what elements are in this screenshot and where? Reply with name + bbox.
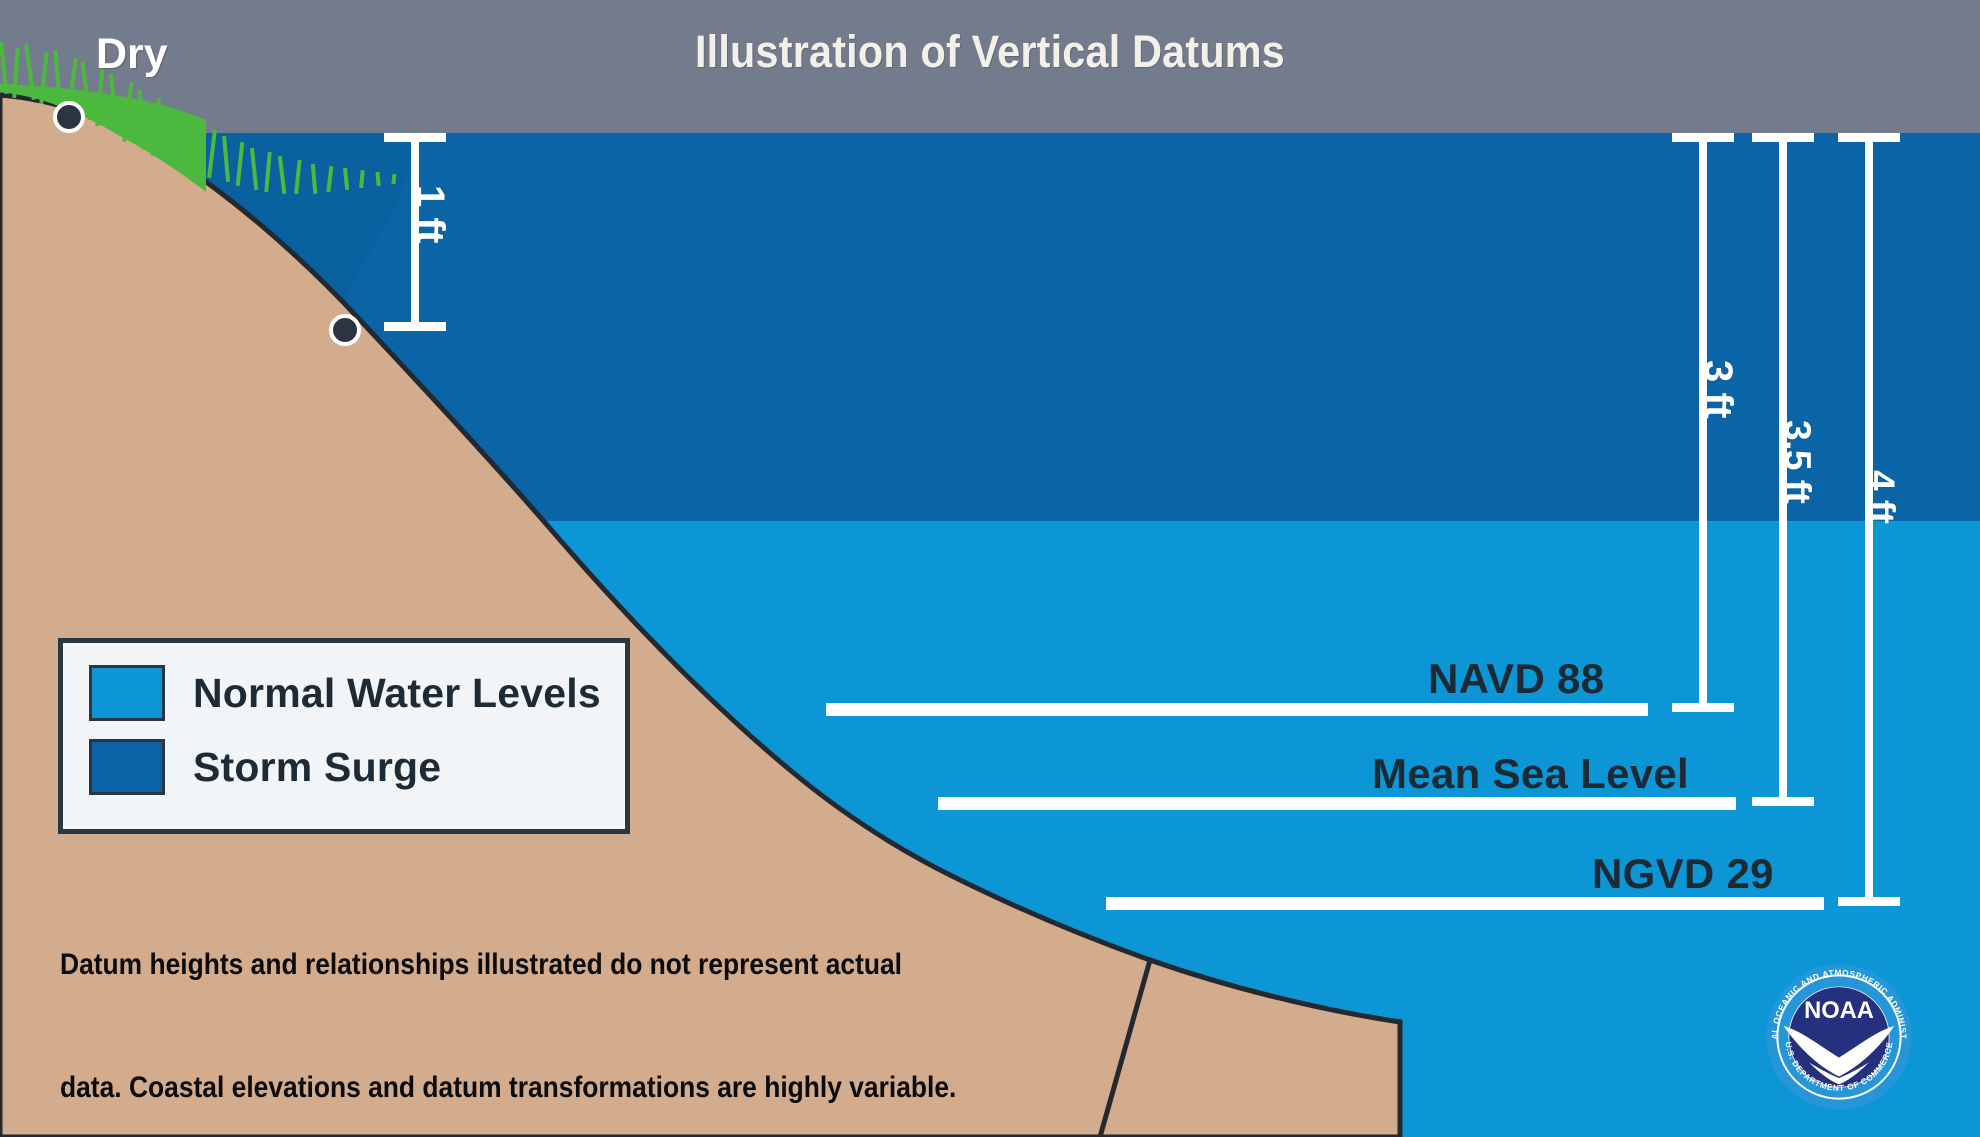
legend-label-normal-water-levels: Normal Water Levels (193, 670, 601, 717)
datum-label-navd88: NAVD 88 (1428, 655, 1604, 703)
legend-swatch-normal-water-levels (89, 665, 165, 721)
caption-line-1: Datum heights and relationships illustra… (60, 944, 940, 985)
ruler-label-4ft: 4 ft (1860, 470, 1902, 524)
benchmark-dot-upper (55, 103, 83, 131)
datum-line-navd88 (826, 703, 1648, 716)
legend: Normal Water Levels Storm Surge (58, 638, 630, 834)
dry-label: Dry (96, 30, 168, 79)
noaa-logo: NOAA NATIONAL OCEANIC AND ATMOSPHERIC AD… (1760, 958, 1918, 1116)
caption-block: Datum heights and relationships illustra… (60, 862, 940, 1137)
legend-swatch-storm-surge (89, 739, 165, 795)
datum-label-mean-sea-level: Mean Sea Level (1372, 750, 1689, 798)
datum-line-ngvd29 (1106, 897, 1824, 910)
legend-label-storm-surge: Storm Surge (193, 744, 441, 791)
datum-line-msl (938, 797, 1736, 810)
infographic-canvas: Illustration of Vertical Datums Dry 1 ft… (0, 0, 1980, 1137)
datum-label-ngvd29: NGVD 29 (1592, 850, 1774, 898)
ruler-label-3-5ft: 3.5 ft (1776, 420, 1818, 503)
page-title: Illustration of Vertical Datums (79, 26, 1901, 78)
ruler-label-3ft: 3 ft (1695, 360, 1740, 418)
ruler-label-1ft: 1 ft (407, 185, 452, 243)
legend-item-normal-water-levels: Normal Water Levels (89, 665, 625, 721)
caption-line-2: data. Coastal elevations and datum trans… (60, 1067, 940, 1108)
legend-item-storm-surge: Storm Surge (89, 739, 625, 795)
benchmark-dot-lower (331, 316, 359, 344)
noaa-wordmark: NOAA (1804, 998, 1874, 1024)
